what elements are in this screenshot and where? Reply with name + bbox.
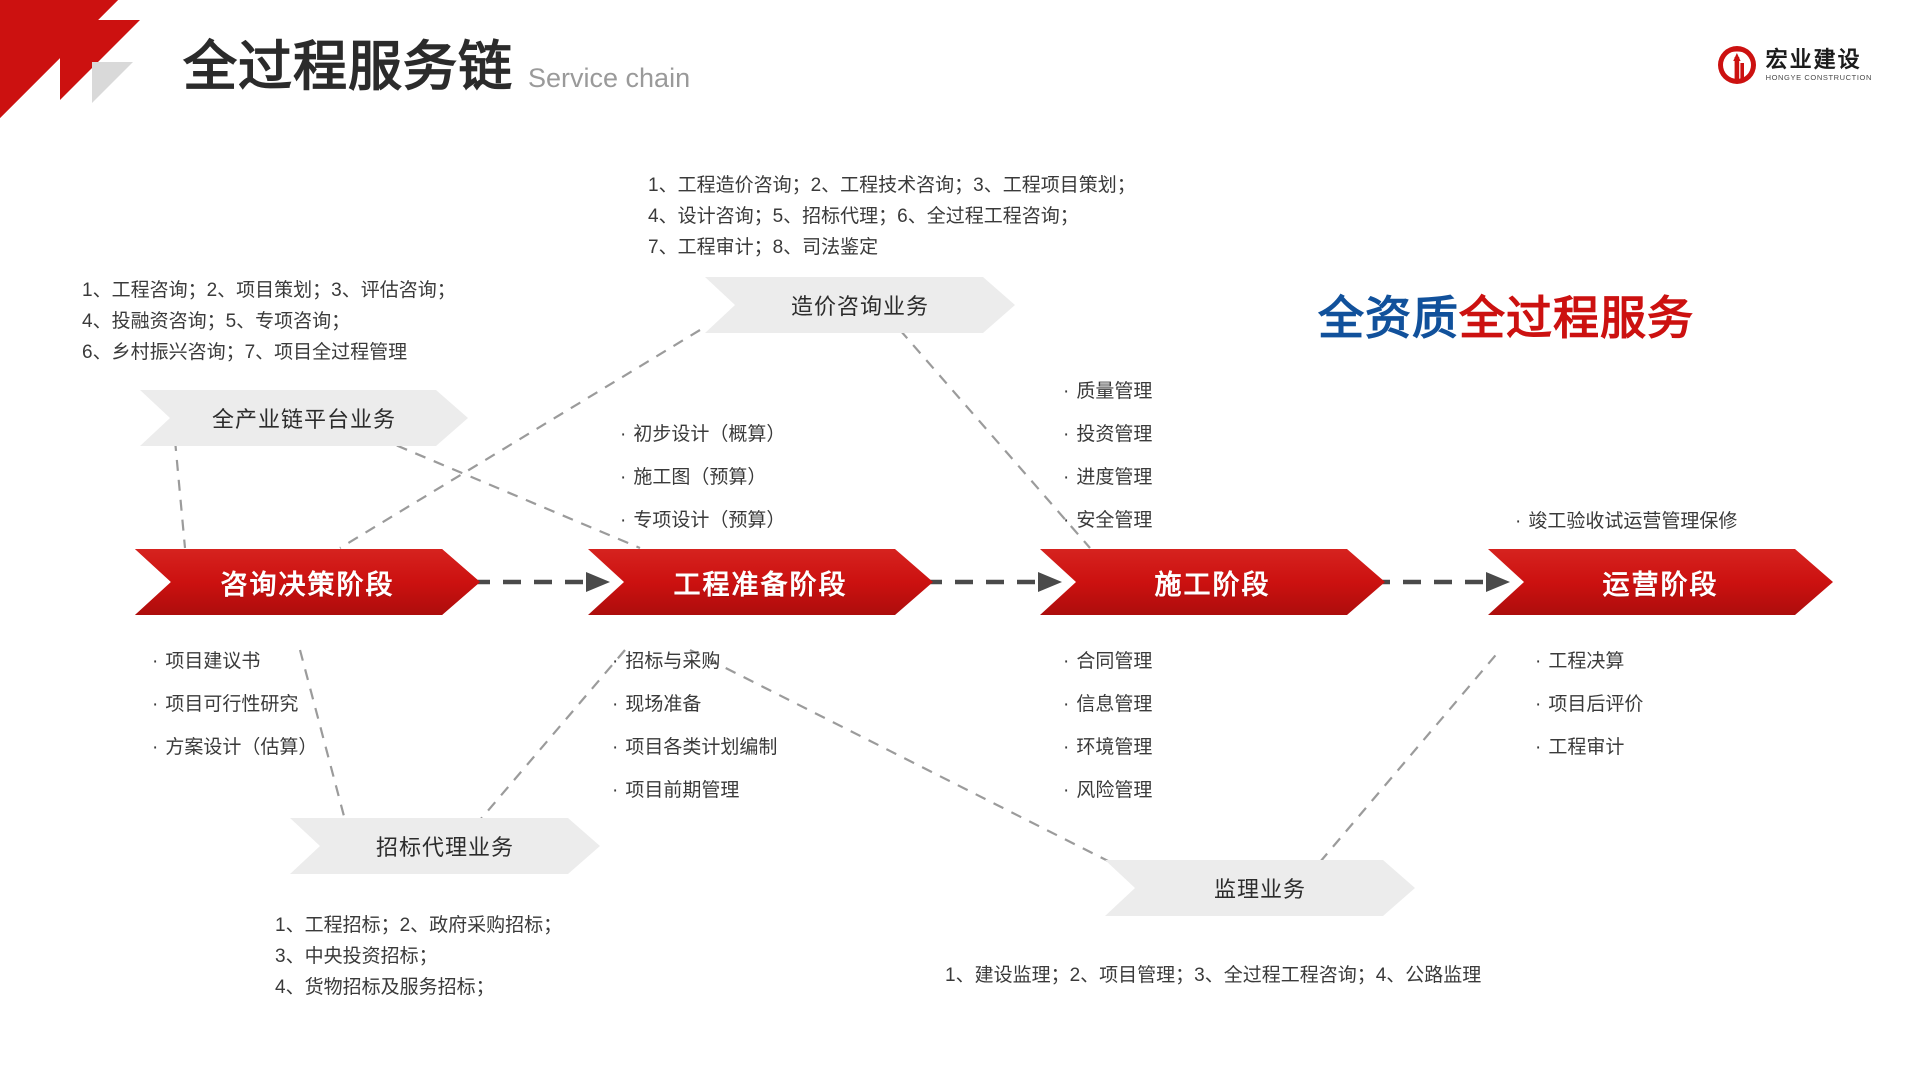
supervision-detail-text: 1、建设监理；2、项目管理；3、全过程工程咨询；4、公路监理 xyxy=(945,960,1481,991)
stage-label: 施工阶段 xyxy=(1155,563,1271,602)
platform-detail-text: 1、工程咨询；2、项目策划；3、评估咨询； 4、投融资咨询；5、专项咨询； 6、… xyxy=(82,275,456,368)
biz-bidding-agency[interactable]: 招标代理业务 xyxy=(290,818,600,874)
biz-label: 全产业链平台业务 xyxy=(212,402,396,434)
stage-construction[interactable]: 施工阶段 xyxy=(1040,549,1385,615)
headline-blue: 全资质 xyxy=(1318,292,1459,344)
operation-above-list: 竣工验收试运营管理保修 xyxy=(1515,500,1737,543)
construction-above-list: 质量管理 投资管理 进度管理 安全管理 xyxy=(1063,370,1152,542)
biz-full-industry-chain-platform[interactable]: 全产业链平台业务 xyxy=(140,390,468,446)
biz-label: 造价咨询业务 xyxy=(791,289,929,321)
headline-red: 全过程服务 xyxy=(1459,292,1694,344)
biz-cost-consulting[interactable]: 造价咨询业务 xyxy=(705,277,1015,333)
slide-root: 全过程服务链 Service chain 宏业建设 HONGYE CONSTRU… xyxy=(0,0,1920,1080)
bidding-detail-text: 1、工程招标；2、政府采购招标； 3、中央投资招标； 4、货物招标及服务招标； xyxy=(275,910,562,1003)
cost-consulting-detail-text: 1、工程造价咨询；2、工程技术咨询；3、工程项目策划； 4、设计咨询；5、招标代… xyxy=(648,170,1136,263)
stage-consulting-decision[interactable]: 咨询决策阶段 xyxy=(135,549,480,615)
page-title: 全过程服务链 xyxy=(183,40,513,94)
logo-mark-icon xyxy=(1716,44,1758,86)
logo-name-en: HONGYE CONSTRUCTION xyxy=(1766,74,1872,82)
stage-operation[interactable]: 运营阶段 xyxy=(1488,549,1833,615)
construction-below-list: 合同管理 信息管理 环境管理 风险管理 xyxy=(1063,640,1152,812)
preparation-above-list: 初步设计（概算） 施工图（预算） 专项设计（预算） xyxy=(620,413,785,542)
operation-below-list: 工程决算 项目后评价 工程审计 xyxy=(1535,640,1643,769)
stage-label: 运营阶段 xyxy=(1603,563,1719,602)
stage-label: 咨询决策阶段 xyxy=(221,563,395,602)
consulting-below-list: 项目建议书 项目可行性研究 方案设计（估算） xyxy=(152,640,317,769)
stage-project-preparation[interactable]: 工程准备阶段 xyxy=(588,549,933,615)
logo-name-cn: 宏业建设 xyxy=(1766,49,1872,71)
company-logo: 宏业建设 HONGYE CONSTRUCTION xyxy=(1716,44,1872,86)
biz-label: 招标代理业务 xyxy=(376,830,514,862)
stage-label: 工程准备阶段 xyxy=(674,563,848,602)
page-subtitle: Service chain xyxy=(528,63,690,94)
preparation-below-list: 招标与采购 现场准备 项目各类计划编制 项目前期管理 xyxy=(612,640,777,812)
headline: 全资质全过程服务 xyxy=(1318,282,1694,348)
biz-label: 监理业务 xyxy=(1214,872,1306,904)
biz-supervision[interactable]: 监理业务 xyxy=(1105,860,1415,916)
